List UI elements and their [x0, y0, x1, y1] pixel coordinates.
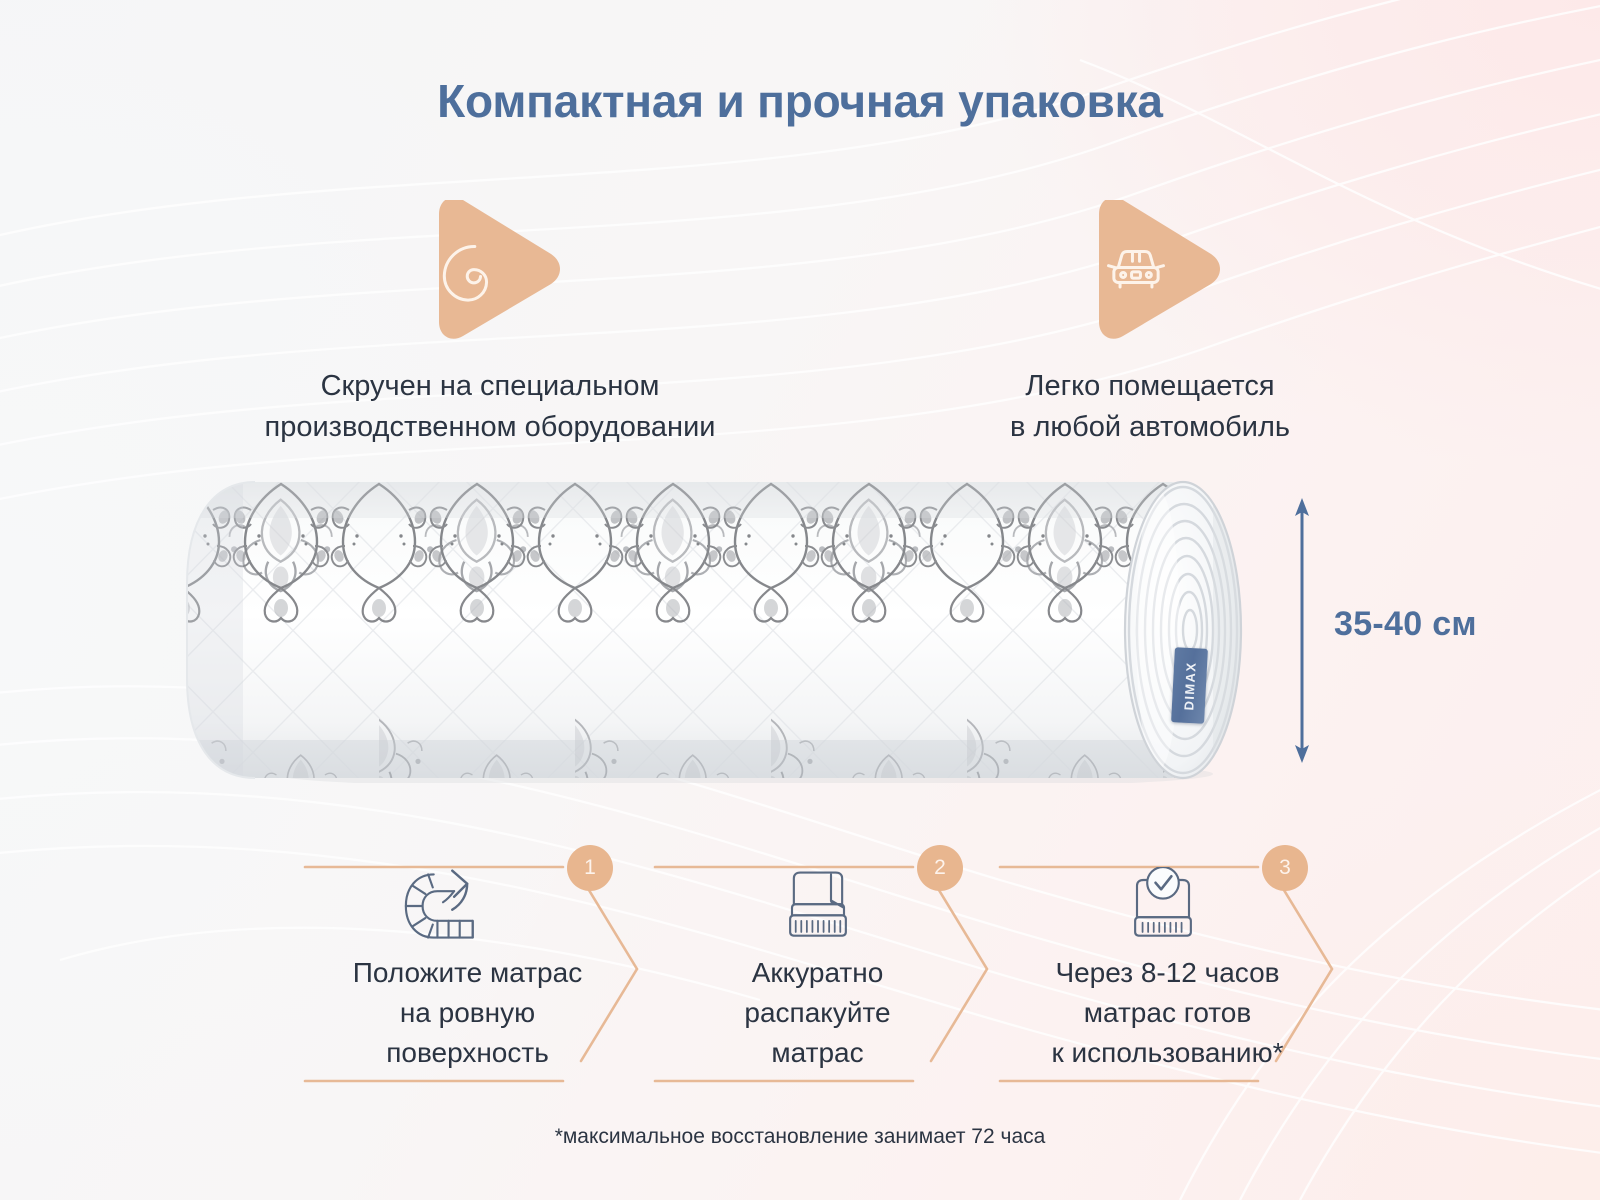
rolled-mattress-svg: [183, 478, 1253, 783]
brand-tag-label: DIMAX: [1181, 661, 1199, 711]
step-number: 2: [934, 856, 946, 880]
feature-badge-2: [1075, 200, 1225, 340]
step-1: 1 Положите матрас на ровную поверхность: [295, 845, 640, 1093]
spiral-roll-icon: [441, 240, 503, 302]
mattress-check-icon: [1120, 867, 1206, 945]
feature-block-car: Легко помещается в любой автомобиль: [840, 200, 1460, 448]
step-2-line1: Аккуратно: [645, 953, 990, 993]
step-3-line3: к использованию*: [995, 1033, 1340, 1073]
page-title: Компактная и прочная упаковка: [0, 74, 1600, 128]
step-2-line3: матрас: [645, 1033, 990, 1073]
step-number-badge: 2: [917, 845, 963, 891]
feature-caption-2-line2: в любой автомобиль: [840, 407, 1460, 448]
footnote: *максимальное восстановление занимает 72…: [0, 1125, 1600, 1149]
dimension-label: 35-40 см: [1334, 605, 1477, 644]
step-1-line3: поверхность: [295, 1033, 640, 1073]
step-number: 3: [1279, 856, 1291, 880]
step-1-line2: на ровную: [295, 993, 640, 1033]
mattress-unpack-icon: [775, 867, 861, 945]
step-3-text: Через 8-12 часов матрас готов к использо…: [995, 953, 1340, 1072]
rolled-mattress-image: DIMAX: [183, 478, 1253, 783]
step-1-line1: Положите матрас: [295, 953, 640, 993]
step-2-text: Аккуратно распакуйте матрас: [645, 953, 990, 1072]
feature-caption-1-line1: Скручен на специальном: [180, 366, 800, 407]
height-dimension-arrow: [1288, 498, 1316, 763]
feature-caption-2-line1: Легко помещается: [840, 366, 1460, 407]
step-3-line2: матрас готов: [995, 993, 1340, 1033]
feature-badge-1: [415, 200, 565, 340]
steps-row: 1 Положите матрас на ровную поверхность: [0, 845, 1600, 1095]
step-1-text: Положите матрас на ровную поверхность: [295, 953, 640, 1072]
infographic-page: Компактная и прочная упаковка Скручен на…: [0, 0, 1600, 1200]
step-number-badge: 1: [567, 845, 613, 891]
brand-tag: DIMAX: [1171, 647, 1208, 724]
feature-block-rolled: Скручен на специальном производственном …: [180, 200, 800, 448]
step-3: 3 Через 8-12 часов матрас готов к исполь…: [990, 845, 1335, 1093]
rolled-mattress-unroll-icon: [400, 867, 486, 945]
feature-caption-1-line2: производственном оборудовании: [180, 407, 800, 448]
step-number: 1: [584, 856, 596, 880]
feature-caption-1: Скручен на специальном производственном …: [180, 366, 800, 448]
step-2: 2 Аккуратно распакуйте матрас: [645, 845, 990, 1093]
step-3-line1: Через 8-12 часов: [995, 953, 1340, 993]
feature-caption-2: Легко помещается в любой автомобиль: [840, 366, 1460, 448]
step-2-line2: распакуйте: [645, 993, 990, 1033]
car-front-icon: [1105, 244, 1167, 298]
step-number-badge: 3: [1262, 845, 1308, 891]
